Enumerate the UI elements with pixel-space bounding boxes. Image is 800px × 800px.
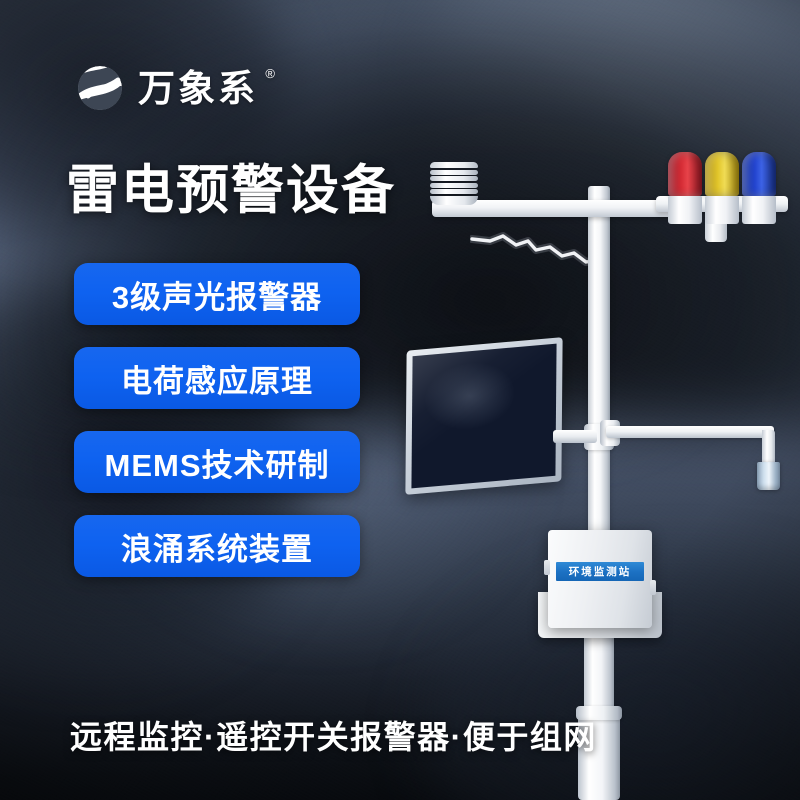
shield-fin (430, 176, 478, 181)
feature-pill-surge: 浪涌系统装置 (74, 515, 360, 577)
control-box-label: 环境监测站 (556, 562, 644, 581)
yellow-beacon-dome (705, 152, 739, 196)
control-box-latch-left (544, 560, 550, 575)
solar-panel-arm (553, 430, 597, 443)
yellow-alarm-beacon (705, 152, 739, 224)
footer-tagline: 远程监控·遥控开关报警器·便于组网 (70, 712, 597, 758)
red-alarm-beacon (668, 152, 702, 224)
product-poster: 环境监测站 万象系 ® 雷电预警设备 3级声光报警器 电荷感应原理 MEMS技术… (0, 0, 800, 800)
feature-pill-alarm: 3级声光报警器 (74, 263, 360, 325)
shield-cap (430, 162, 478, 168)
page-title: 雷电预警设备 (66, 163, 396, 219)
brand-name: 万象系 ® (138, 70, 258, 107)
control-box: 环境监测站 (548, 530, 652, 628)
shield-fin (430, 170, 478, 175)
feature-pill-technology: MEMS技术研制 (74, 431, 360, 493)
brand-logo: 万象系 ® (74, 62, 258, 114)
blue-beacon-dome (742, 152, 776, 196)
swirl-circle-logo-icon (74, 62, 126, 114)
red-beacon-base (668, 196, 702, 224)
sensor-arm-vertical (762, 430, 775, 466)
feature-pill-principle: 电荷感应原理 (74, 347, 360, 409)
control-box-latch-right (650, 580, 656, 595)
red-beacon-dome (668, 152, 702, 196)
blue-alarm-beacon (742, 152, 776, 224)
sensor-arm-horizontal (606, 426, 774, 438)
shield-fin (430, 189, 478, 194)
feature-list: 3级声光报警器 电荷感应原理 MEMS技术研制 浪涌系统装置 (74, 263, 360, 577)
blue-beacon-base (742, 196, 776, 224)
lightning-sensor (757, 462, 780, 490)
radiation-shield-sensor (430, 162, 478, 206)
registered-trademark-mark: ® (265, 67, 275, 80)
solar-panel (405, 337, 562, 495)
brand-name-text: 万象系 (138, 68, 258, 109)
shield-bowl (430, 196, 478, 205)
yellow-beacon-base (705, 196, 739, 224)
shield-fin (430, 183, 478, 188)
solar-panel-cells (411, 344, 556, 489)
